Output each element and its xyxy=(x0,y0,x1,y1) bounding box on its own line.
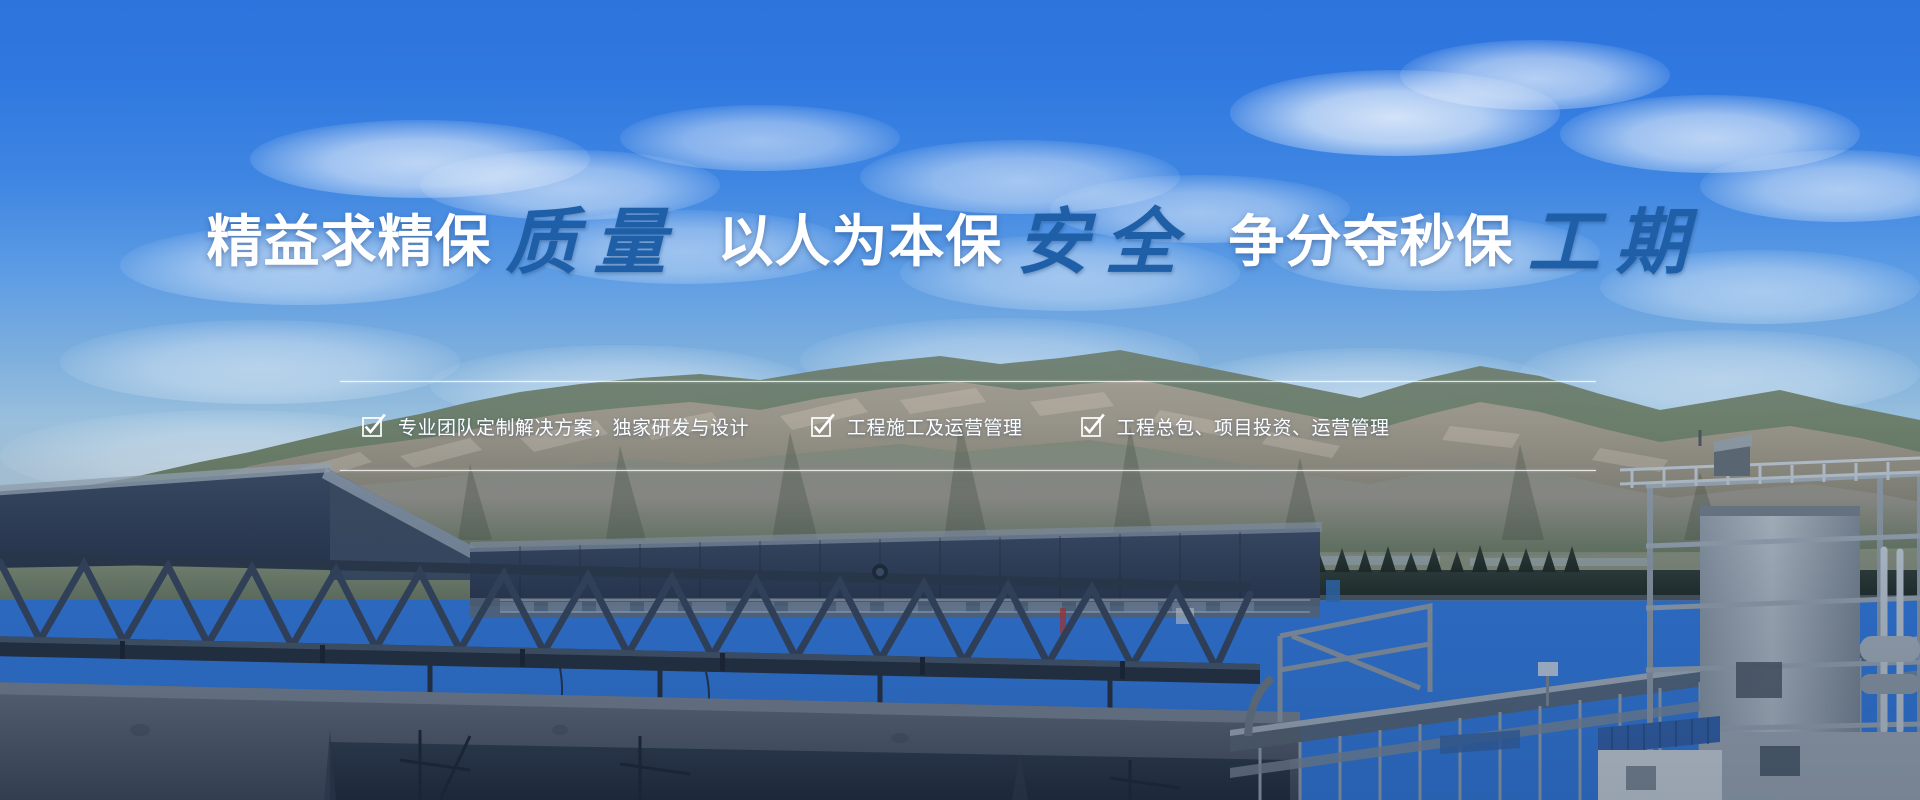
hero-banner: 精益求精保质量 以人为本保安全 争分夺秒保工期 专业团队定制解决方案，独家研发与… xyxy=(0,0,1920,800)
check-box-icon xyxy=(362,416,383,437)
feature-label-1: 专业团队定制解决方案，独家研发与设计 xyxy=(398,413,749,440)
feature-label-3: 工程总包、项目投资、运营管理 xyxy=(1117,413,1390,440)
pitched-roof-building xyxy=(0,462,1322,634)
feature-label-2: 工程施工及运营管理 xyxy=(847,413,1023,440)
sedimentation-basin xyxy=(0,682,1300,800)
check-box-icon xyxy=(811,416,832,437)
industrial-plant-foreground xyxy=(0,430,1920,800)
feature-item-2[interactable]: 工程施工及运营管理 xyxy=(811,413,1023,440)
feature-item-3[interactable]: 工程总包、项目投资、运营管理 xyxy=(1081,413,1390,440)
feature-item-1[interactable]: 专业团队定制解决方案，独家研发与设计 xyxy=(362,413,749,440)
check-box-icon xyxy=(1081,416,1102,437)
